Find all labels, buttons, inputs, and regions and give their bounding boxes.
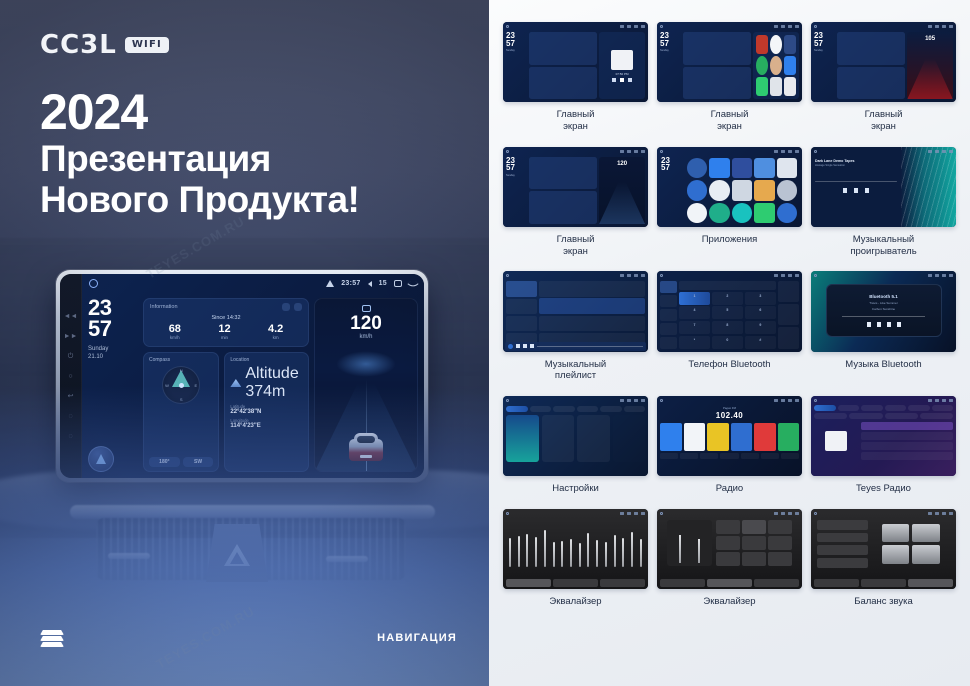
balance-tabs[interactable] <box>814 579 953 587</box>
presentation-slide: CC3L WIFI 2024 Презентация Нового Продук… <box>0 0 970 686</box>
gallery-caption: Эквалайзер <box>549 596 601 608</box>
thumbnail-music-playlist[interactable] <box>503 271 648 351</box>
gallery-item[interactable]: Музыкальныйплейлист <box>503 271 648 391</box>
gallery-caption: Баланс звука <box>854 596 913 608</box>
playlist-rows[interactable] <box>539 281 645 348</box>
dial-keypad[interactable]: 123456789*0# <box>679 292 776 349</box>
gallery-caption: Музыка Bluetooth <box>845 359 921 371</box>
headline-year: 2024 <box>40 86 359 138</box>
bt-artist: Carbon Sunshine <box>872 307 895 311</box>
thumbnail-sound-balance[interactable] <box>811 509 956 589</box>
speed-value: 120 <box>315 314 417 333</box>
gallery-item[interactable]: Эквалайзер <box>503 509 648 617</box>
stat-unit: km/h <box>169 335 181 340</box>
gallery-item[interactable]: Dark Lane Demo Tapes Hostage Single Sens… <box>811 147 956 267</box>
trip-stats: 68 km/h 12 min 4.2 km <box>150 323 302 342</box>
thumbnail-bluetooth-phone[interactable]: 123456789*0# <box>657 271 802 351</box>
clock-minutes: 57 <box>88 319 138 340</box>
thumbnail-teyes-radio[interactable] <box>811 396 956 476</box>
information-card[interactable]: Information Since 14:32 68 <box>143 298 309 347</box>
information-title: Information <box>150 304 178 310</box>
page-title: 2024 Презентация Нового Продукта! <box>40 86 359 221</box>
stat-value: 4.2 <box>268 323 283 335</box>
gallery-caption: Главныйэкран <box>865 109 903 132</box>
home-icon[interactable] <box>814 25 817 28</box>
thumb-clock-sub: Sunday <box>506 49 527 52</box>
gallery-grid: 23 57 Sunday 07:50 PM Глав <box>503 22 956 617</box>
hotspot-card <box>542 415 575 462</box>
speaker-rear-right <box>912 545 940 564</box>
speed-unit: km/h <box>315 334 417 340</box>
thumbnail-home-apps[interactable]: 2357Sunday <box>657 22 802 102</box>
home-icon[interactable] <box>660 150 663 153</box>
waveform-graphic <box>901 147 956 227</box>
home-icon[interactable] <box>814 150 817 153</box>
wifi-icon <box>326 280 334 287</box>
back-icon[interactable] <box>407 278 418 289</box>
home-icon[interactable] <box>814 274 817 277</box>
call-icon <box>778 327 799 348</box>
home-icon[interactable] <box>660 25 663 28</box>
star-icon <box>778 281 799 302</box>
gallery-caption: Телефон Bluetooth <box>688 359 770 371</box>
media-time: 07:50 PM <box>616 72 629 76</box>
next-icon[interactable] <box>530 344 534 348</box>
bezel-next-icon[interactable]: ►► <box>64 333 78 340</box>
more-card <box>577 415 610 462</box>
screenshot-gallery: TEYES.COM.RU 23 57 Sunday 07:50 PM <box>489 0 970 686</box>
altitude-label: Altitude <box>245 365 298 383</box>
thumbnail-music-player[interactable]: Dark Lane Demo Tapes Hostage Single Sens… <box>811 147 956 227</box>
gallery-caption: Эквалайзер <box>703 596 755 608</box>
nav-caption: НАВИГАЦИЯ <box>377 632 457 644</box>
gallery-caption: Teyes Радио <box>856 483 911 495</box>
brand-lockup: CC3L WIFI <box>40 30 169 60</box>
previous-icon[interactable] <box>516 344 520 348</box>
equalizer-tabs[interactable] <box>660 579 799 587</box>
station-art <box>825 431 847 451</box>
home-icon[interactable] <box>660 399 663 402</box>
thumbnail-equalizer-bars[interactable] <box>503 509 648 589</box>
preset-buttons[interactable] <box>716 520 792 567</box>
settings-tabs[interactable] <box>506 406 645 412</box>
thumbnail-home-media[interactable]: 23 57 Sunday 07:50 PM <box>503 22 648 102</box>
gallery-item[interactable]: Эквалайзер <box>657 509 802 617</box>
balance-presets[interactable] <box>817 520 868 568</box>
seek-bar[interactable] <box>842 316 924 317</box>
hud-icon <box>362 305 371 312</box>
next-icon[interactable] <box>865 188 869 193</box>
app-grid[interactable] <box>686 157 798 224</box>
status-bar: 23:57 15 <box>82 274 424 293</box>
thumbnail-home-drive-blue[interactable]: 2357Sunday 120 <box>503 147 648 227</box>
gallery-item[interactable]: Teyes Радио <box>811 396 956 504</box>
gallery-item[interactable]: 2357Sunday 120 Главныйэкран <box>503 147 648 267</box>
bluetooth-title: Bluetooth 5.1 <box>869 294 898 299</box>
status-home-icon[interactable] <box>89 279 98 288</box>
stat-value: 68 <box>169 323 181 335</box>
trip-stat: 68 km/h <box>169 323 181 340</box>
thumb-speed: 105 <box>907 36 953 42</box>
compass-n: N <box>180 368 183 373</box>
speaker-grid[interactable] <box>872 520 950 568</box>
compass-title: Compass <box>149 357 213 363</box>
bezel-prev-icon[interactable]: ◄◄ <box>64 313 78 320</box>
pause-icon[interactable] <box>523 344 527 348</box>
seek-bar[interactable] <box>537 346 643 347</box>
gallery-caption: Главныйэкран <box>711 109 749 132</box>
settings-cards[interactable] <box>506 415 645 462</box>
speaker-rear-left <box>882 545 910 564</box>
brand-wifi-badge: WIFI <box>125 37 169 53</box>
thumbnail-apps[interactable]: 2357 <box>657 147 802 227</box>
clock-date: 21.10 <box>88 353 138 361</box>
previous-icon[interactable] <box>843 188 847 193</box>
volume-icon <box>368 281 372 287</box>
home-icon[interactable] <box>660 512 663 515</box>
trip-stat: 12 min <box>218 323 230 340</box>
home-icon[interactable] <box>506 150 509 153</box>
home-icon[interactable] <box>814 399 817 402</box>
radio-toolbar[interactable] <box>660 453 799 459</box>
seek-bar[interactable] <box>815 181 897 183</box>
gallery-item[interactable]: Радио FM 102.40 Радио <box>657 396 802 504</box>
station-list[interactable] <box>861 422 953 460</box>
album-art <box>611 50 633 70</box>
gallery-item[interactable]: Настройки <box>503 396 648 504</box>
refresh-icon[interactable] <box>294 303 302 311</box>
gallery-item[interactable]: Bluetooth 5.1 Travis - Like Summer Carbo… <box>811 271 956 391</box>
pause-icon[interactable] <box>854 188 858 193</box>
gallery-caption: Настройки <box>552 483 599 495</box>
gallery-item[interactable]: 123456789*0# Телефон Bluetooth <box>657 271 802 391</box>
equalizer-sliders[interactable] <box>507 518 644 567</box>
radio-frequency: 102.40 <box>660 411 799 420</box>
thumbnail-settings[interactable] <box>503 396 648 476</box>
next-icon[interactable] <box>897 322 901 327</box>
thumb-speed: 120 <box>599 161 645 167</box>
wifi-card <box>506 415 539 462</box>
preset-tiles[interactable] <box>660 423 799 451</box>
stop-icon[interactable] <box>887 322 891 327</box>
home-icon[interactable] <box>660 274 663 277</box>
hero-panel: CC3L WIFI 2024 Презентация Нового Продук… <box>0 0 489 686</box>
phone-sidebar[interactable] <box>660 281 677 348</box>
headline-line-2: Нового Продукта! <box>40 179 359 220</box>
thumbnail-equalizer-presets[interactable] <box>657 509 802 589</box>
stat-unit: km <box>268 335 283 340</box>
thumbnail-home-drive-red[interactable]: 2357Sunday 105 <box>811 22 956 102</box>
track-title: Dark Lane Demo Tapes <box>815 159 897 163</box>
phone-actions[interactable] <box>778 281 799 348</box>
status-volume: 15 <box>379 280 387 287</box>
home-icon[interactable] <box>506 25 509 28</box>
stat-unit: min <box>218 335 230 340</box>
bt-track: Travis - Like Summer <box>869 301 897 305</box>
layers-icon <box>40 630 64 648</box>
gallery-item[interactable]: 2357 Приложения <box>657 147 802 267</box>
settings-icon[interactable] <box>282 303 290 311</box>
radio-band: Радио FM <box>660 406 799 410</box>
gallery-caption: Главныйэкран <box>557 109 595 132</box>
equalizer-tabs[interactable] <box>506 579 645 587</box>
gallery-item[interactable]: Баланс звука <box>811 509 956 617</box>
home-icon[interactable]: ○ <box>68 373 72 380</box>
home-icon[interactable] <box>506 399 509 402</box>
gallery-caption: Главныйэкран <box>557 234 595 257</box>
gallery-item[interactable]: 2357Sunday Главныйэкран <box>657 22 802 142</box>
track-artist: Hostage Single Sensation <box>815 164 897 167</box>
gallery-caption: Радио <box>716 483 743 495</box>
status-time: 23:57 <box>341 280 360 287</box>
now-playing-art <box>508 344 513 349</box>
home-icon[interactable] <box>506 512 509 515</box>
home-icon[interactable] <box>506 274 509 277</box>
trip-since: Since 14:32 <box>150 315 302 321</box>
road-glow <box>336 351 396 377</box>
thumbnail-bluetooth-music[interactable]: Bluetooth 5.1 Travis - Like Summer Carbo… <box>811 271 956 351</box>
play-pause-icon[interactable] <box>877 322 881 327</box>
headline-line-1: Презентация <box>40 138 359 179</box>
playlist-sidebar[interactable] <box>506 281 537 348</box>
gallery-caption: Музыкальныйплейлист <box>545 359 606 382</box>
speaker-front-right <box>912 524 940 543</box>
stat-value: 12 <box>218 323 230 335</box>
gallery-item[interactable]: 23 57 Sunday 07:50 PM Глав <box>503 22 648 142</box>
speaker-front-left <box>882 524 910 543</box>
clock-day: Sunday <box>88 345 138 353</box>
gallery-item[interactable]: 2357Sunday 105 Главныйэкран <box>811 22 956 142</box>
thumb-clock-minutes: 57 <box>506 40 527 48</box>
trip-stat: 4.2 km <box>268 323 283 340</box>
gallery-caption: Музыкальныйпроигрыватель <box>850 234 916 257</box>
previous-icon[interactable] <box>867 322 871 327</box>
brand-name: CC3L <box>40 30 117 60</box>
home-icon[interactable] <box>814 512 817 515</box>
camera-icon[interactable] <box>394 280 402 287</box>
location-title: Location <box>230 357 303 363</box>
thumbnail-radio[interactable]: Радио FM 102.40 <box>657 396 802 476</box>
contacts-icon <box>778 304 799 325</box>
power-icon[interactable]: ⏻ <box>68 353 74 360</box>
gallery-caption: Приложения <box>702 234 758 246</box>
